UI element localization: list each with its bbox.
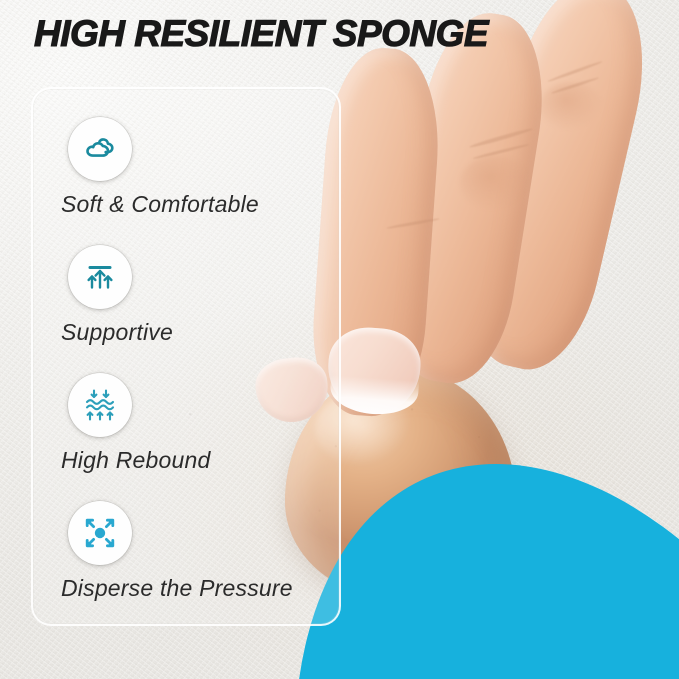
up-arrows-bar-icon — [68, 245, 132, 309]
feature-card: Soft & Comfortable Supportive — [31, 87, 341, 626]
feature-item-high-rebound: High Rebound — [33, 367, 339, 495]
fingernail-index-tip — [329, 375, 419, 417]
feature-label-high-rebound: High Rebound — [61, 447, 210, 474]
knuckle-shadow-1 — [460, 156, 530, 210]
feature-label-supportive: Supportive — [61, 319, 173, 346]
feature-list: Soft & Comfortable Supportive — [33, 89, 339, 624]
cloud-icon — [68, 117, 132, 181]
feature-label-soft-comfortable: Soft & Comfortable — [61, 191, 259, 218]
product-feature-image: Soft & Comfortable Supportive — [0, 0, 679, 679]
knuckle-shadow-2 — [540, 82, 602, 130]
disperse-arrows-icon — [68, 501, 132, 565]
page-title: HIGH RESILIENT SPONGE — [34, 13, 488, 55]
feature-item-supportive: Supportive — [33, 239, 339, 367]
feature-item-soft-comfortable: Soft & Comfortable — [33, 111, 339, 239]
rebound-waves-icon — [68, 373, 132, 437]
feature-label-disperse-pressure: Disperse the Pressure — [61, 575, 293, 602]
feature-item-disperse-pressure: Disperse the Pressure — [33, 495, 339, 623]
hand-pressing-egg — [300, 0, 679, 430]
